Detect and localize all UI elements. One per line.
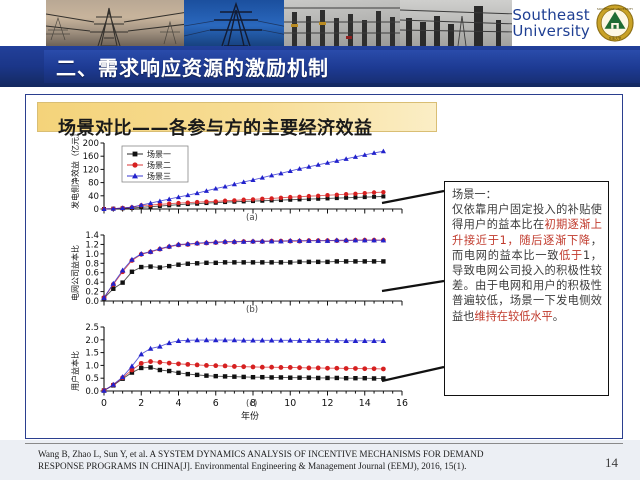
photo-transmission-tower-sunset	[46, 0, 183, 46]
page-number: 14	[605, 455, 618, 471]
svg-text:0.6: 0.6	[85, 269, 99, 279]
svg-text:0.8: 0.8	[85, 259, 99, 269]
plot-svg-c: 0.00.51.01.52.02.50246810121416	[60, 321, 410, 421]
svg-text:2.5: 2.5	[85, 323, 99, 333]
svg-text:0.0: 0.0	[85, 297, 99, 307]
y-axis-label-a: 发电侧净效益（亿元）	[70, 129, 81, 209]
southeast-university-seal-icon: SOUTHEAST UNIVERSITY 东南大学	[596, 4, 634, 42]
content-frame: 场景对比——各参与方的主要经济效益 04080120160200场景一场景二场景…	[25, 94, 623, 439]
svg-text:0: 0	[101, 398, 107, 409]
series-场景一	[102, 259, 386, 300]
svg-text:14: 14	[359, 398, 371, 409]
svg-text:6: 6	[213, 398, 219, 409]
brand-block: Southeast University SOUTHEAST UNIVERSIT…	[512, 0, 640, 46]
citation-line-1: Wang B, Zhao L, Sun Y, et al. A SYSTEM D…	[38, 448, 538, 460]
svg-text:场景一: 场景一	[147, 150, 171, 159]
pylon-sunset-svg	[46, 0, 183, 46]
substation-svg	[284, 0, 400, 46]
callout-seg-5: 维持在较低水平	[474, 310, 552, 323]
svg-text:1.0: 1.0	[85, 250, 99, 260]
brand-line-2: University	[512, 23, 590, 39]
svg-text:场景二: 场景二	[147, 161, 171, 170]
svg-text:12: 12	[322, 398, 334, 409]
photo-substation-insulators	[400, 0, 512, 46]
svg-text:2: 2	[138, 398, 144, 409]
svg-text:0.0: 0.0	[85, 387, 99, 397]
svg-text:1.4: 1.4	[85, 231, 99, 241]
citation: Wang B, Zhao L, Sun Y, et al. A SYSTEM D…	[38, 448, 538, 472]
svg-text:4: 4	[176, 398, 182, 409]
svg-text:0: 0	[94, 205, 99, 215]
y-axis-label-b: 电网公司益本比	[70, 245, 81, 301]
brand-line-1: Southeast	[512, 7, 590, 23]
svg-text:160: 160	[83, 152, 99, 162]
svg-text:0.4: 0.4	[85, 278, 99, 288]
chart-legend: 场景一场景二场景三	[122, 146, 188, 182]
x-axis-label: 年份	[241, 409, 259, 422]
plot-svg-b: 0.00.20.40.60.81.01.21.4	[60, 229, 410, 315]
svg-text:SOUTHEAST UNIVERSITY: SOUTHEAST UNIVERSITY	[597, 7, 633, 11]
header-left-spacer	[0, 0, 46, 46]
callout-text: 场景一： 仅依靠用户固定投入的补贴使得用户的益本比在初期逐渐上升接近于1，随后逐…	[452, 187, 602, 324]
chart-panel-b: 0.00.20.40.60.81.01.21.4电网公司益本比(b)	[60, 229, 410, 315]
insulators-svg	[400, 0, 512, 46]
series-场景三	[101, 237, 386, 300]
y-axis-label-c: 用户益本比	[70, 351, 81, 391]
brand-name: Southeast University	[512, 7, 590, 39]
plot-svg-a: 04080120160200场景一场景二场景三	[60, 137, 410, 223]
svg-text:40: 40	[88, 192, 99, 202]
panel-tag-b: (b)	[246, 305, 258, 315]
svg-text:10: 10	[284, 398, 296, 409]
pylon-blue-svg	[184, 0, 285, 46]
svg-text:1.0: 1.0	[85, 361, 99, 371]
svg-text:场景三: 场景三	[147, 172, 171, 181]
section-subtitle-band: 场景对比——各参与方的主要经济效益	[37, 102, 437, 132]
svg-text:200: 200	[83, 139, 99, 149]
svg-text:1.5: 1.5	[85, 349, 99, 359]
series-场景一	[102, 365, 386, 392]
chart-stack: 04080120160200场景一场景二场景三发电侧净效益（亿元）(a)0.00…	[60, 137, 410, 427]
svg-text:80: 80	[88, 179, 99, 189]
header-banner: Southeast University SOUTHEAST UNIVERSIT…	[0, 0, 640, 46]
callout-seg-3: 低于	[559, 249, 583, 262]
svg-text:0.5: 0.5	[85, 374, 99, 384]
footer-divider	[25, 443, 623, 444]
photo-substation-equipment	[284, 0, 400, 46]
callout-heading: 场景一：	[452, 188, 497, 201]
photo-transmission-tower-blue-sky	[184, 0, 285, 46]
svg-text:2.0: 2.0	[85, 336, 99, 346]
svg-text:16: 16	[396, 398, 408, 409]
panel-tag-c: (c)	[246, 399, 257, 409]
svg-text:120: 120	[83, 165, 99, 175]
callout-textbox: 场景一： 仅依靠用户固定投入的补贴使得用户的益本比在初期逐渐上升接近于1，随后逐…	[444, 181, 609, 396]
callout-seg-6: 。	[553, 310, 564, 323]
panel-tag-a: (a)	[246, 213, 258, 223]
svg-text:1.2: 1.2	[85, 240, 99, 250]
citation-line-2: RESPONSE PROGRAMS IN CHINA[J]. Environme…	[38, 460, 538, 472]
svg-text:0.2: 0.2	[85, 288, 99, 298]
page-title: 二、需求响应资源的激励机制	[56, 52, 329, 81]
chart-panel-a: 04080120160200场景一场景二场景三发电侧净效益（亿元）(a)	[60, 137, 410, 223]
chart-panel-c: 0.00.51.01.52.02.50246810121416用户益本比(c)年…	[60, 321, 410, 421]
svg-text:东南大学: 东南大学	[609, 35, 622, 40]
series-场景二	[102, 238, 386, 300]
series-场景二	[102, 190, 386, 211]
